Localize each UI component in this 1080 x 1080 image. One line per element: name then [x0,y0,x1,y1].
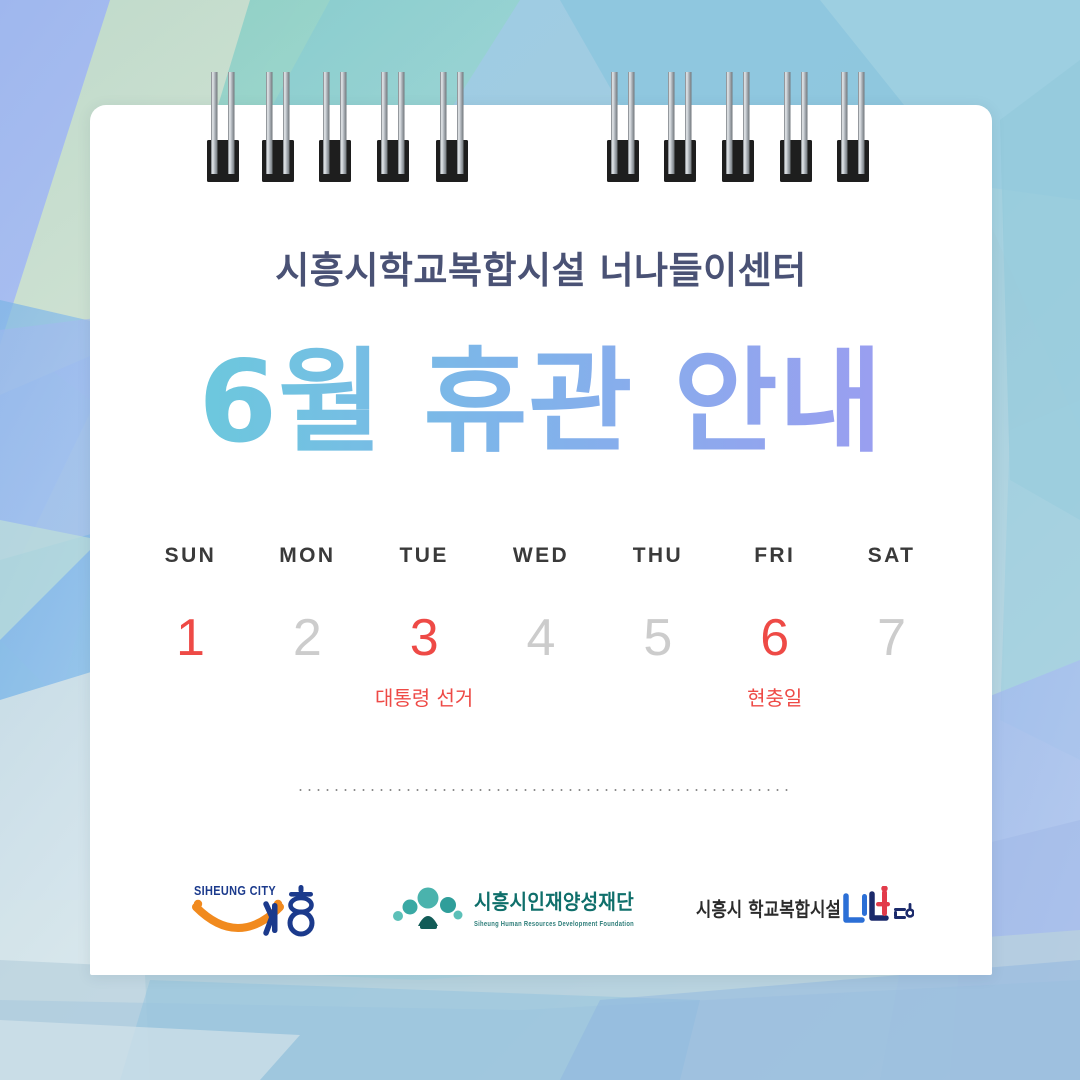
organization-text: 시흥시학교복합시설 너나들이센터 [275,249,806,292]
event-label-day-4 [483,664,600,688]
day-cell-1[interactable]: 1 [132,566,249,664]
event-label-day-6: 현충일 [716,664,833,688]
organization-text-svg: 시흥시학교복합시설 너나들이센터 [161,245,921,297]
neonadeuri-brand-mark-icon [846,886,913,920]
center-korean-text: 시흥시 학교복합시설 [696,898,841,921]
event-label-day-3: 대통령 선거 [366,664,483,688]
day-number-row: 1 2 3 4 5 6 7 [132,566,950,664]
main-title: 6월 휴관 안내 [90,333,992,473]
day-cell-4[interactable]: 4 [483,566,600,664]
siheung-city-logo-svg: SIHEUNG CITY [186,877,336,943]
siheung-hrd-foundation-logo: 시흥시인재양성재단 Siheung Human Resources Develo… [390,882,642,938]
weekday-header-wed: WED [483,545,600,566]
weekday-header-sun: SUN [132,545,249,566]
day-cell-3[interactable]: 3 [366,566,483,664]
main-title-svg: 6월 휴관 안내 [141,333,941,473]
logo-strip: SIHEUNG CITY [90,865,992,955]
main-title-text: 6월 휴관 안내 [198,336,883,468]
people-cluster-icon [393,888,463,930]
weekday-header-fri: FRI [716,545,833,566]
day-cell-7[interactable]: 7 [833,566,950,664]
weekday-header-row: SUN MON TUE WED THU FRI SAT [132,545,950,566]
weekday-header-thu: THU [599,545,716,566]
day-cell-5[interactable]: 5 [599,566,716,664]
day-cell-6[interactable]: 6 [716,566,833,664]
event-label-day-1 [132,664,249,688]
foundation-english-text: Siheung Human Resources Development Foun… [474,919,634,928]
weekday-header-mon: MON [249,545,366,566]
siheung-city-logo: SIHEUNG CITY [186,877,336,943]
event-label-row: 대통령 선거 현충일 [132,664,950,688]
foundation-korean-text: 시흥시인재양성재단 [474,890,634,914]
smile-dot-left-icon [194,900,202,908]
dotted-divider [296,789,788,791]
poster-root: 시흥시학교복합시설 너나들이센터 6월 휴관 안내 SUN MON [0,0,1080,1080]
neonadeuri-center-logo-svg: 시흥시 학교복합시설 [696,886,914,934]
weekday-header-sat: SAT [833,545,950,566]
weekday-header-tue: TUE [366,545,483,566]
siheung-city-english-text: SIHEUNG CITY [194,884,276,898]
day-cell-2[interactable]: 2 [249,566,366,664]
event-label-day-5 [599,664,716,688]
neonadeuri-center-logo: 시흥시 학교복합시설 [696,886,914,934]
event-label-day-2 [249,664,366,688]
siheung-hrd-foundation-logo-svg: 시흥시인재양성재단 Siheung Human Resources Develo… [390,882,642,938]
event-label-day-7 [833,664,950,688]
organization-line: 시흥시학교복합시설 너나들이센터 [90,245,992,297]
calendar-grid: SUN MON TUE WED THU FRI SAT 1 2 3 4 5 6 … [132,545,950,688]
